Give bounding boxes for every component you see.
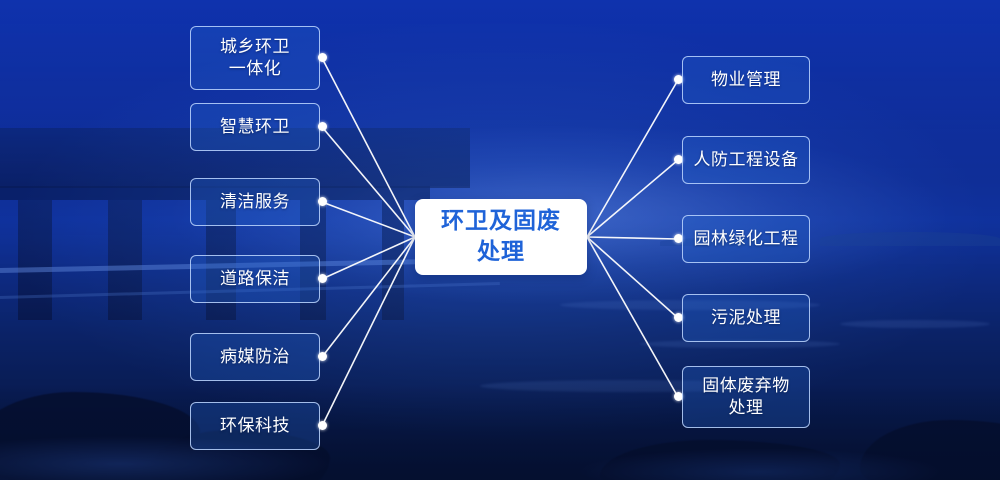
- connector-line: [322, 127, 415, 237]
- node-left-1[interactable]: 城乡环卫 一体化: [190, 26, 320, 90]
- node-left-6-label: 环保科技: [220, 415, 290, 438]
- center-node-line2: 处理: [477, 239, 525, 265]
- node-right-5-line2: 处理: [729, 398, 764, 418]
- node-left-5[interactable]: 病媒防治: [190, 333, 320, 381]
- node-left-4-label: 道路保洁: [220, 268, 290, 291]
- connector-dot: [318, 352, 327, 361]
- node-right-3-label: 园林绿化工程: [694, 228, 799, 251]
- node-left-1-line2: 一体化: [229, 59, 282, 79]
- node-left-3[interactable]: 清洁服务: [190, 178, 320, 226]
- connector-line: [587, 80, 678, 237]
- connector-dot: [318, 122, 327, 131]
- connector-dot: [318, 197, 327, 206]
- diagram-canvas: 城乡环卫 一体化 智慧环卫 清洁服务 道路保洁 病媒防治 环保科技 环卫及固废 …: [0, 0, 1000, 480]
- node-right-4[interactable]: 污泥处理: [682, 294, 810, 342]
- node-right-5-label: 固体废弃物 处理: [702, 375, 790, 419]
- connector-line: [587, 237, 678, 397]
- node-left-1-line1: 城乡环卫: [220, 37, 290, 57]
- node-right-4-label: 污泥处理: [711, 307, 781, 330]
- node-right-5-line1: 固体废弃物: [702, 376, 790, 396]
- connector-line: [587, 237, 678, 239]
- connector-dot: [318, 274, 327, 283]
- node-left-1-label: 城乡环卫 一体化: [220, 36, 290, 80]
- node-left-3-label: 清洁服务: [220, 191, 290, 214]
- connector-line: [322, 237, 415, 357]
- node-left-4[interactable]: 道路保洁: [190, 255, 320, 303]
- center-node-label: 环卫及固废 处理: [441, 206, 561, 268]
- node-left-6[interactable]: 环保科技: [190, 402, 320, 450]
- node-right-5[interactable]: 固体废弃物 处理: [682, 366, 810, 428]
- node-left-2[interactable]: 智慧环卫: [190, 103, 320, 151]
- connector-dot: [318, 421, 327, 430]
- connector-line: [322, 58, 415, 237]
- connector-line: [587, 160, 678, 237]
- center-node[interactable]: 环卫及固废 处理: [415, 199, 587, 275]
- node-left-5-label: 病媒防治: [220, 346, 290, 369]
- node-right-2-label: 人防工程设备: [694, 149, 799, 172]
- connector-line: [322, 237, 415, 279]
- node-left-2-label: 智慧环卫: [220, 116, 290, 139]
- center-node-line1: 环卫及固废: [441, 208, 561, 234]
- node-right-2[interactable]: 人防工程设备: [682, 136, 810, 184]
- connector-line: [322, 237, 415, 426]
- node-right-1-label: 物业管理: [711, 69, 781, 92]
- connector-line: [587, 237, 678, 318]
- node-right-3[interactable]: 园林绿化工程: [682, 215, 810, 263]
- node-right-1[interactable]: 物业管理: [682, 56, 810, 104]
- connector-dot: [318, 53, 327, 62]
